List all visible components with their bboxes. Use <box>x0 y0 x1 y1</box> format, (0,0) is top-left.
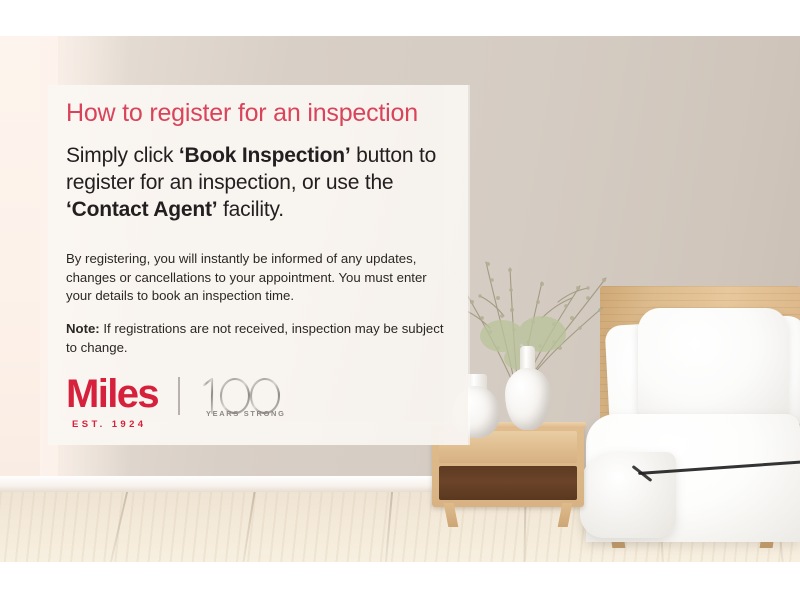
nightstand-shelf <box>439 466 577 500</box>
vase-tall-body <box>505 368 551 430</box>
body-paragraph-1: By registering, you will instantly be in… <box>66 250 452 306</box>
lead-part-1: Simply click <box>66 144 179 167</box>
body-paragraph-2: Note: If registrations are not received,… <box>66 320 452 357</box>
screenshot-root: How to register for an inspection Simply… <box>0 0 800 600</box>
established-text: EST. 1924 <box>72 419 146 430</box>
info-panel: How to register for an inspection Simply… <box>48 85 468 445</box>
note-text: If registrations are not received, inspe… <box>66 321 444 355</box>
book-inspection-label: ‘Book Inspection’ <box>179 144 351 167</box>
lead-paragraph: Simply click ‘Book Inspection’ button to… <box>66 142 458 223</box>
note-label: Note: <box>66 321 100 336</box>
logo-divider <box>178 377 180 415</box>
brand-name: Miles <box>66 373 158 415</box>
contact-agent-label: ‘Contact Agent’ <box>66 198 217 221</box>
letterbox-top <box>0 0 800 36</box>
duvet-fold <box>580 452 676 538</box>
lead-part-3: facility. <box>217 198 283 221</box>
letterbox-bottom <box>0 562 800 600</box>
pillow-main <box>638 308 788 428</box>
page-title: How to register for an inspection <box>66 98 458 128</box>
miles-logo: Miles EST. 1924 <box>66 373 326 431</box>
anniversary-tagline: YEARS STRONG <box>206 409 286 418</box>
